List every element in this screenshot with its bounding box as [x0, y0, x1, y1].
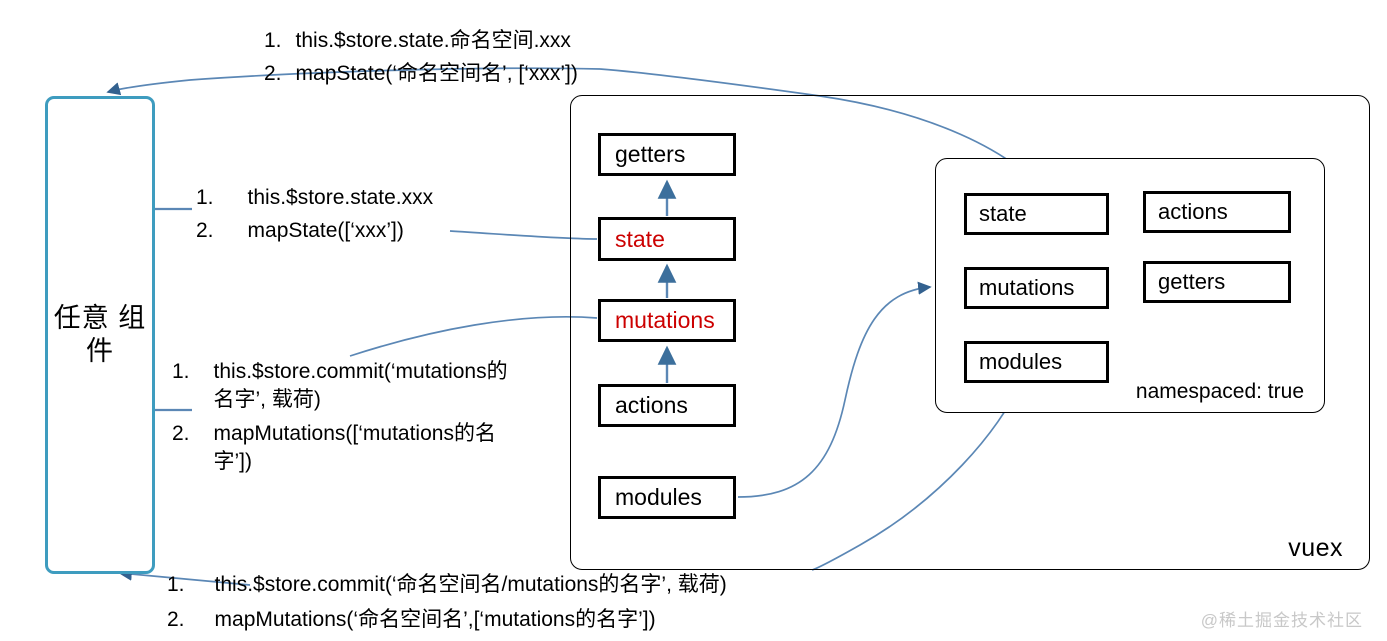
annotation-plain-mutations-text-2: mapMutations([‘mutations的名 字’])	[214, 420, 508, 476]
annotation-namespaced-mutations-num-2: 2.	[167, 606, 185, 634]
ns-box-getters-label: getters	[1158, 269, 1225, 295]
ns-box-modules-label: modules	[979, 349, 1062, 375]
annotation-namespaced-state-text-2: mapState(‘命名空间名’, [‘xxx’])	[296, 60, 578, 88]
annotation-plain-mutations-num-1: 1.	[172, 358, 190, 414]
ns-box-actions-label: actions	[1158, 199, 1228, 225]
ns-box-state-label: state	[979, 201, 1027, 227]
watermark: @稀土掘金技术社区	[1201, 606, 1363, 631]
ns-box-mutations[interactable]: mutations	[964, 267, 1109, 309]
store-box-modules[interactable]: modules	[598, 476, 736, 519]
annotation-plain-mutations: 1. this.$store.commit(‘mutations的 名字’, 载…	[172, 358, 508, 477]
annotation-plain-state: 1. this.$store.state.xxx 2. mapState([‘x…	[196, 184, 433, 245]
component-label: 任意 组件	[48, 302, 152, 368]
annotation-namespaced-mutations-text-1: this.$store.commit(‘命名空间名/mutations的名字’,…	[215, 571, 727, 599]
store-box-getters[interactable]: getters	[598, 133, 736, 176]
ns-box-getters[interactable]: getters	[1143, 261, 1291, 303]
annotation-plain-mutations-text-1: this.$store.commit(‘mutations的 名字’, 载荷)	[214, 358, 508, 414]
annotation-namespaced-mutations: 1. this.$store.commit(‘命名空间名/mutations的名…	[167, 571, 727, 634]
store-box-actions-label: actions	[615, 392, 688, 419]
diagram-canvas: 任意 组件 vuex getters state mutations actio…	[0, 0, 1387, 641]
vuex-label: vuex	[1288, 534, 1343, 563]
namespaced-module-panel: state actions mutations getters modules …	[935, 158, 1325, 413]
store-box-getters-label: getters	[615, 141, 685, 168]
ns-box-state[interactable]: state	[964, 193, 1109, 235]
annotation-plain-state-num-2: 2.	[196, 217, 214, 245]
store-box-state-label: state	[615, 226, 665, 253]
store-box-state[interactable]: state	[598, 217, 736, 261]
ns-box-mutations-label: mutations	[979, 275, 1074, 301]
ns-box-actions[interactable]: actions	[1143, 191, 1291, 233]
annotation-plain-state-text-2: mapState([‘xxx’])	[248, 217, 434, 245]
component-box[interactable]: 任意 组件	[45, 96, 155, 574]
annotation-plain-mutations-num-2: 2.	[172, 420, 190, 476]
annotation-namespaced-state-num-2: 2.	[264, 60, 282, 88]
annotation-plain-state-text-1: this.$store.state.xxx	[248, 184, 434, 212]
annotation-namespaced-state-num-1: 1.	[264, 27, 282, 55]
store-box-mutations-label: mutations	[615, 307, 715, 334]
store-box-mutations[interactable]: mutations	[598, 299, 736, 342]
store-box-actions[interactable]: actions	[598, 384, 736, 427]
store-box-modules-label: modules	[615, 484, 702, 511]
namespaced-note: namespaced: true	[1136, 380, 1304, 404]
annotation-namespaced-state-text-1: this.$store.state.命名空间.xxx	[296, 27, 578, 55]
annotation-namespaced-state: 1. this.$store.state.命名空间.xxx 2. mapStat…	[264, 27, 578, 88]
annotation-namespaced-mutations-text-2: mapMutations(‘命名空间名’,[‘mutations的名字’])	[215, 606, 727, 634]
annotation-namespaced-mutations-num-1: 1.	[167, 571, 185, 599]
ns-box-modules[interactable]: modules	[964, 341, 1109, 383]
annotation-plain-state-num-1: 1.	[196, 184, 214, 212]
